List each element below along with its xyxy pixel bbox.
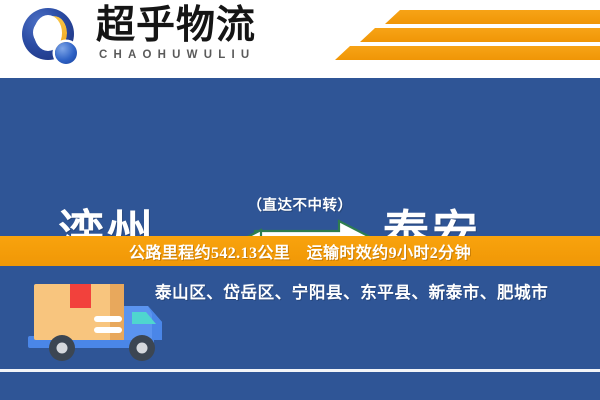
brand-name-en: CHAOHUWULIU xyxy=(99,49,255,61)
road-line-icon xyxy=(0,369,600,372)
logo-small-dot xyxy=(55,42,77,64)
route-info-text: 公路里程约542.13公里 运输时效约9小时2分钟 xyxy=(129,239,471,263)
stripe-2 xyxy=(360,28,600,42)
delivery-truck-icon xyxy=(22,274,170,374)
route-info-bar: 公路里程约542.13公里 运输时效约9小时2分钟 xyxy=(0,236,600,266)
coverage-districts-text: 泰山区、岱岳区、宁阳县、东平县、新泰市、肥城市 xyxy=(155,281,585,305)
brand-name-cn: 超乎物流 xyxy=(96,4,256,48)
logistics-route-banner: 超乎物流 CHAOHUWULIU 滦州 （直达不中转） 【往返运输】 泰安 xyxy=(0,0,600,400)
stripe-1 xyxy=(385,10,600,24)
coverage-panel: 泰山区、岱岳区、宁阳县、东平县、新泰市、肥城市 xyxy=(0,266,600,400)
direct-service-note: （直达不中转） xyxy=(225,194,375,215)
stripe-3 xyxy=(335,46,600,60)
orange-speed-stripes-icon xyxy=(335,0,600,76)
circle-crescent-logo-icon xyxy=(22,8,84,68)
banner-header: 超乎物流 CHAOHUWULIU xyxy=(0,0,600,76)
route-panel: 滦州 （直达不中转） 【往返运输】 泰安 xyxy=(0,78,600,236)
